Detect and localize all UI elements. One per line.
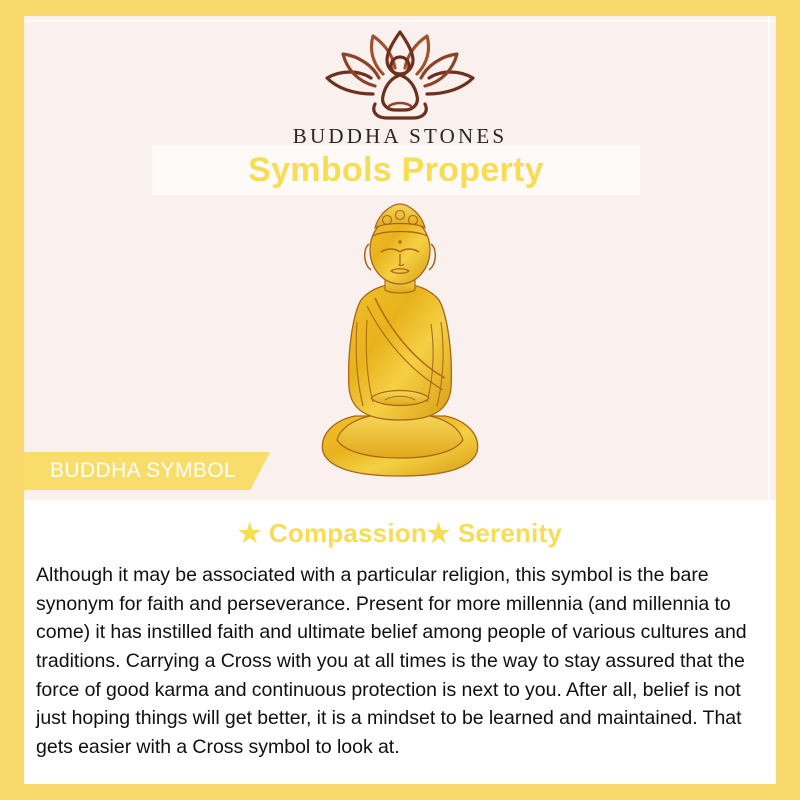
lotus-meditation-figure-icon — [315, 28, 485, 120]
seated-golden-buddha-icon — [305, 202, 495, 492]
page-title: Symbols Property — [248, 151, 544, 190]
content-panel: ★ Compassion★ Serenity Although it may b… — [24, 500, 776, 784]
category-tag: BUDDHA SYMBOL — [24, 452, 270, 490]
poster: BUDDHA STONES Symbols Property — [0, 0, 800, 800]
top-hairline-divider — [24, 20, 776, 22]
category-tag-label: BUDDHA SYMBOL — [50, 459, 236, 483]
title-banner: Symbols Property — [152, 145, 640, 195]
content-paragraph: Although it may be associated with a par… — [36, 561, 764, 762]
hero-image-container — [24, 202, 776, 492]
content-subheading: ★ Compassion★ Serenity — [24, 518, 776, 549]
brand-logo: BUDDHA STONES — [24, 28, 776, 149]
poster-canvas: BUDDHA STONES Symbols Property — [24, 16, 776, 784]
